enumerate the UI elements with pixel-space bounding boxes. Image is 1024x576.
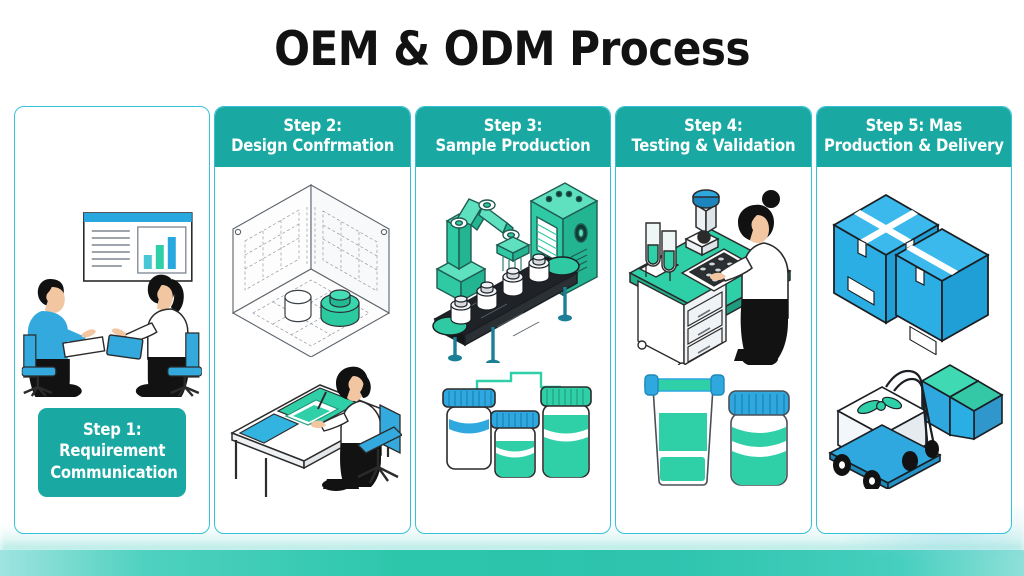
step-label-5: Step 5: Mas Production & Delivery [817, 107, 1011, 167]
step-label-1: Step 1: Requirement Communication [38, 408, 186, 497]
step-label-2: Step 2: Design Confrmation [215, 107, 409, 167]
designer-at-drafting-desk-illustration [215, 361, 409, 503]
hand-truck-with-cartons-illustration [817, 359, 1011, 489]
step-card-5[interactable]: Step 5: Mas Production & Delivery [816, 106, 1012, 534]
slide-canvas: OEM & ODM Process [0, 0, 1024, 576]
step-card-1[interactable]: Step 1: Requirement Communication [14, 106, 210, 534]
step-label-4: Step 4: Testing & Validation [616, 107, 810, 167]
process-steps-row: Step 1: Requirement Communication Step 2… [14, 106, 1012, 534]
three-sample-bottles-illustration [416, 367, 610, 487]
step-card-3[interactable]: Step 3: Sample Production [415, 106, 611, 534]
robotic-arm-conveyor-illustration [416, 177, 610, 363]
stacked-shipping-boxes-illustration [817, 177, 1011, 355]
step-card-2[interactable]: Step 2: Design Confrmation [214, 106, 410, 534]
step-card-4[interactable]: Step 4: Testing & Validation [615, 106, 811, 534]
step-label-3: Step 3: Sample Production [416, 107, 610, 167]
page-title: OEM & ODM Process [0, 22, 1024, 77]
meeting-discussion-illustration [15, 207, 209, 397]
lab-technician-microscope-illustration [616, 177, 810, 365]
lab-sample-containers-illustration [616, 369, 810, 491]
isometric-cad-blueprint-illustration [215, 177, 409, 357]
